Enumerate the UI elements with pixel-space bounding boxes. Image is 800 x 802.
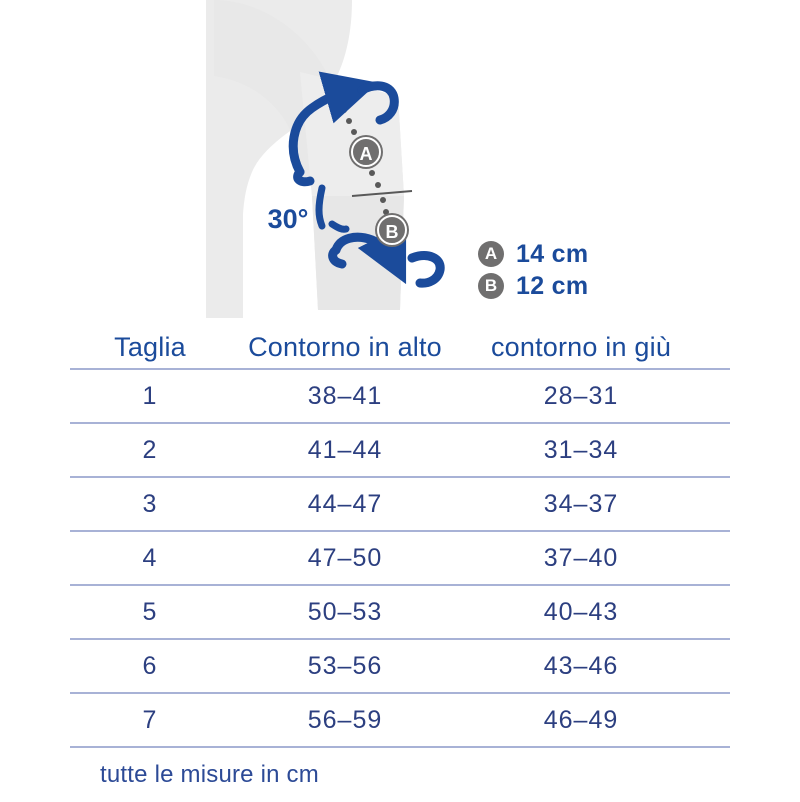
marker-b-label: B — [386, 222, 399, 242]
column-header-size: Taglia — [70, 332, 230, 363]
measurement-legend: A 14 cm B 12 cm — [478, 238, 708, 302]
legend-item-b: B 12 cm — [478, 270, 708, 302]
cell-bottom: 28–31 — [460, 382, 730, 411]
cell-bottom: 40–43 — [460, 598, 730, 627]
cell-bottom: 34–37 — [460, 490, 730, 519]
legend-badge-b-icon: B — [478, 273, 504, 299]
angle-label: 30° — [268, 204, 309, 234]
cell-top: 41–44 — [230, 436, 460, 465]
marker-a-label: A — [360, 144, 373, 164]
marker-b-icon: B — [375, 213, 409, 247]
column-header-bottom-circumference: contorno in giù — [460, 332, 730, 363]
cell-bottom: 37–40 — [460, 544, 730, 573]
cell-top: 53–56 — [230, 652, 460, 681]
cell-size: 3 — [70, 490, 230, 519]
cell-top: 50–53 — [230, 598, 460, 627]
cell-top: 38–41 — [230, 382, 460, 411]
cell-top: 47–50 — [230, 544, 460, 573]
table-row: 7 56–59 46–49 — [70, 692, 730, 746]
table-row: 4 47–50 37–40 — [70, 530, 730, 584]
table-header-row: Taglia Contorno in alto contorno in giù — [70, 326, 730, 368]
cell-bottom: 31–34 — [460, 436, 730, 465]
units-note: tutte le misure in cm — [70, 761, 319, 789]
column-header-top-circumference: Contorno in alto — [230, 332, 460, 363]
cell-size: 2 — [70, 436, 230, 465]
cell-bottom: 43–46 — [460, 652, 730, 681]
table-row: 3 44–47 34–37 — [70, 476, 730, 530]
size-chart-table: Taglia Contorno in alto contorno in giù … — [70, 326, 730, 802]
cell-size: 4 — [70, 544, 230, 573]
table-row: 1 38–41 28–31 — [70, 368, 730, 422]
cell-size: 6 — [70, 652, 230, 681]
cell-top: 44–47 — [230, 490, 460, 519]
cell-top: 56–59 — [230, 706, 460, 735]
legend-value-b: 12 cm — [516, 272, 588, 301]
cell-bottom: 46–49 — [460, 706, 730, 735]
marker-a-icon: A — [349, 135, 383, 169]
table-row: 5 50–53 40–43 — [70, 584, 730, 638]
angle-arc — [319, 188, 322, 226]
legend-item-a: A 14 cm — [478, 238, 708, 270]
table-footer: tutte le misure in cm — [70, 746, 730, 802]
legend-value-a: 14 cm — [516, 240, 588, 269]
table-row: 2 41–44 31–34 — [70, 422, 730, 476]
legend-badge-a-icon: A — [478, 241, 504, 267]
cell-size: 7 — [70, 706, 230, 735]
cell-size: 5 — [70, 598, 230, 627]
table-row: 6 53–56 43–46 — [70, 638, 730, 692]
cell-size: 1 — [70, 382, 230, 411]
